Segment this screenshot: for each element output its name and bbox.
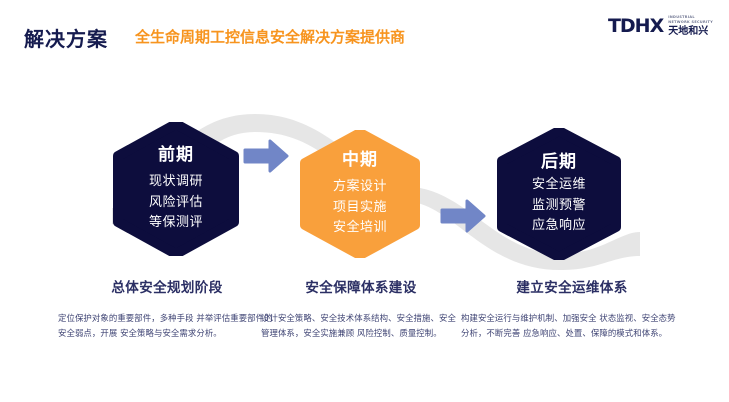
stage-title-mid: 中期 (299, 150, 421, 170)
process-diagram: 前期 现状调研 风险评估 等保测评 中期 方案设计 项目实施 安全培训 后期 安… (0, 56, 729, 402)
stage-item-late-1: 安全运维 (496, 175, 622, 195)
stage-hexagon-late[interactable]: 后期 安全运维 监测预警 应急响应 (496, 128, 622, 260)
right-arrow-icon (243, 139, 289, 173)
stage-item-early-1: 现状调研 (112, 172, 240, 192)
page-title: 解决方案 (24, 23, 108, 52)
stage-hexagon-mid[interactable]: 中期 方案设计 项目实施 安全培训 (299, 130, 421, 258)
stage-item-mid-2: 项目实施 (299, 198, 421, 218)
caption-body-late: 构建安全运行与维护机制、加强安全 状态监视、安全态势分析，不断完善 应急响应、处… (461, 311, 683, 340)
slide-header: 解决方案 全生命周期工控信息安全解决方案提供商 TDHX INDUSTRIAL … (0, 0, 729, 56)
caption-block-early: 总体安全规划阶段 定位保护对象的重要部件，多种手段 并举评估重要部件的安全弱点，… (58, 276, 276, 340)
stage-item-mid-1: 方案设计 (299, 177, 421, 197)
caption-body-early: 定位保护对象的重要部件，多种手段 并举评估重要部件的安全弱点，开展 安全策略与安… (58, 311, 276, 340)
caption-block-late: 建立安全运维体系 构建安全运行与维护机制、加强安全 状态监视、安全态势分析，不断… (461, 276, 683, 340)
caption-heading-mid: 安全保障体系建设 (261, 276, 461, 296)
stage-hexagon-content: 中期 方案设计 项目实施 安全培训 (299, 150, 421, 238)
logo-tagline-line2: NETWORK SECURITY (668, 20, 713, 25)
caption-block-mid: 安全保障体系建设 设计安全策略、安全技术体系结构、安全措施、安全管理体系，安全实… (261, 276, 461, 340)
stage-hexagon-content: 后期 安全运维 监测预警 应急响应 (496, 152, 622, 236)
stage-item-mid-3: 安全培训 (299, 218, 421, 238)
caption-heading-early: 总体安全规划阶段 (58, 276, 276, 296)
logo-company-name-cn: 天地和兴 (668, 26, 713, 37)
stage-item-early-3: 等保测评 (112, 213, 240, 233)
logo-wordmark-icon: TDHX (608, 17, 663, 36)
right-arrow-icon (440, 199, 486, 233)
caption-body-mid: 设计安全策略、安全技术体系结构、安全措施、安全管理体系，安全实施兼顾 风险控制、… (261, 311, 461, 340)
stage-item-late-2: 监测预警 (496, 196, 622, 216)
brand-logo: TDHX INDUSTRIAL NETWORK SECURITY 天地和兴 (608, 12, 713, 40)
caption-heading-late: 建立安全运维体系 (461, 276, 683, 296)
stage-title-late: 后期 (496, 152, 622, 172)
page-subtitle: 全生命周期工控信息安全解决方案提供商 (135, 26, 405, 47)
stage-title-early: 前期 (112, 145, 240, 165)
logo-text-group: INDUSTRIAL NETWORK SECURITY 天地和兴 (668, 15, 713, 36)
stage-item-early-2: 风险评估 (112, 193, 240, 213)
stage-item-late-3: 应急响应 (496, 216, 622, 236)
stage-hexagon-early[interactable]: 前期 现状调研 风险评估 等保测评 (112, 122, 240, 256)
stage-hexagon-content: 前期 现状调研 风险评估 等保测评 (112, 145, 240, 233)
